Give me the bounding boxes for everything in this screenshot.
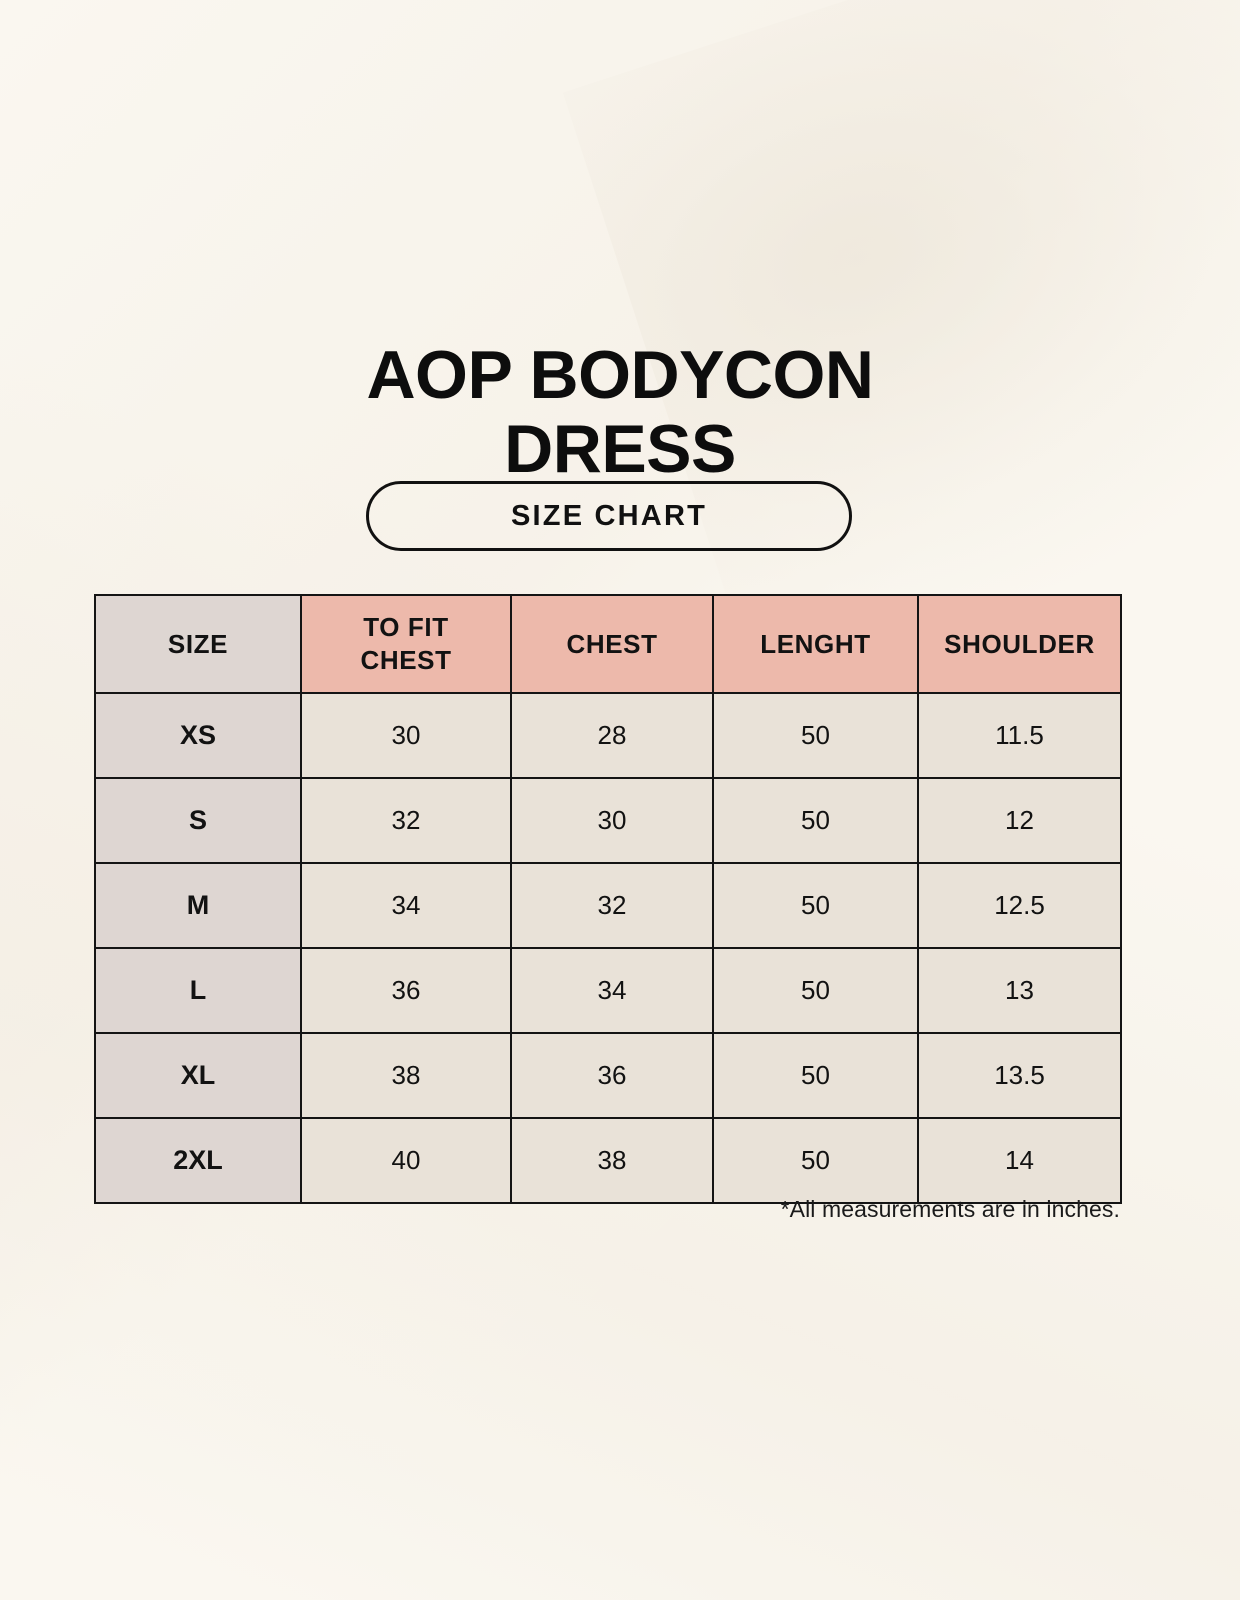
cell-chest: 38 bbox=[511, 1118, 713, 1203]
cell-length: 50 bbox=[713, 948, 918, 1033]
size-table: SIZE TO FIT CHEST CHEST LENGHT SHOULDER … bbox=[94, 594, 1122, 1204]
table-row: M 34 32 50 12.5 bbox=[95, 863, 1121, 948]
column-header-length: LENGHT bbox=[713, 595, 918, 693]
cell-length: 50 bbox=[713, 1033, 918, 1118]
cell-chest: 30 bbox=[511, 778, 713, 863]
cell-chest: 34 bbox=[511, 948, 713, 1033]
cell-to-fit-chest: 36 bbox=[301, 948, 511, 1033]
column-header-size: SIZE bbox=[95, 595, 301, 693]
size-table-container: SIZE TO FIT CHEST CHEST LENGHT SHOULDER … bbox=[94, 594, 1120, 1204]
cell-to-fit-chest: 40 bbox=[301, 1118, 511, 1203]
cell-to-fit-chest: 38 bbox=[301, 1033, 511, 1118]
cell-size: M bbox=[95, 863, 301, 948]
table-row: S 32 30 50 12 bbox=[95, 778, 1121, 863]
cell-chest: 32 bbox=[511, 863, 713, 948]
size-chart-page: AOP BODYCON DRESS SIZE CHART SIZE TO FIT… bbox=[0, 0, 1240, 1600]
cell-to-fit-chest: 30 bbox=[301, 693, 511, 778]
cell-size: XS bbox=[95, 693, 301, 778]
cell-to-fit-chest: 32 bbox=[301, 778, 511, 863]
size-chart-badge-label: SIZE CHART bbox=[511, 500, 707, 533]
size-table-body: XS 30 28 50 11.5 S 32 30 50 12 M 34 32 bbox=[95, 693, 1121, 1203]
table-header-row: SIZE TO FIT CHEST CHEST LENGHT SHOULDER bbox=[95, 595, 1121, 693]
column-header-shoulder: SHOULDER bbox=[918, 595, 1121, 693]
cell-length: 50 bbox=[713, 778, 918, 863]
table-row: L 36 34 50 13 bbox=[95, 948, 1121, 1033]
cell-shoulder: 12 bbox=[918, 778, 1121, 863]
column-header-to-fit-chest: TO FIT CHEST bbox=[301, 595, 511, 693]
cell-length: 50 bbox=[713, 1118, 918, 1203]
cell-length: 50 bbox=[713, 863, 918, 948]
cell-chest: 36 bbox=[511, 1033, 713, 1118]
cell-shoulder: 13 bbox=[918, 948, 1121, 1033]
size-table-head: SIZE TO FIT CHEST CHEST LENGHT SHOULDER bbox=[95, 595, 1121, 693]
cell-shoulder: 14 bbox=[918, 1118, 1121, 1203]
cell-size: XL bbox=[95, 1033, 301, 1118]
page-title: AOP BODYCON DRESS bbox=[0, 338, 1240, 486]
table-row: XL 38 36 50 13.5 bbox=[95, 1033, 1121, 1118]
measurement-unit-note: *All measurements are in inches. bbox=[94, 1196, 1120, 1223]
table-row: XS 30 28 50 11.5 bbox=[95, 693, 1121, 778]
cell-size: S bbox=[95, 778, 301, 863]
cell-to-fit-chest: 34 bbox=[301, 863, 511, 948]
cell-length: 50 bbox=[713, 693, 918, 778]
cell-chest: 28 bbox=[511, 693, 713, 778]
column-header-chest: CHEST bbox=[511, 595, 713, 693]
cell-shoulder: 11.5 bbox=[918, 693, 1121, 778]
table-row: 2XL 40 38 50 14 bbox=[95, 1118, 1121, 1203]
cell-size: 2XL bbox=[95, 1118, 301, 1203]
cell-size: L bbox=[95, 948, 301, 1033]
size-chart-badge: SIZE CHART bbox=[366, 481, 852, 551]
cell-shoulder: 12.5 bbox=[918, 863, 1121, 948]
cell-shoulder: 13.5 bbox=[918, 1033, 1121, 1118]
